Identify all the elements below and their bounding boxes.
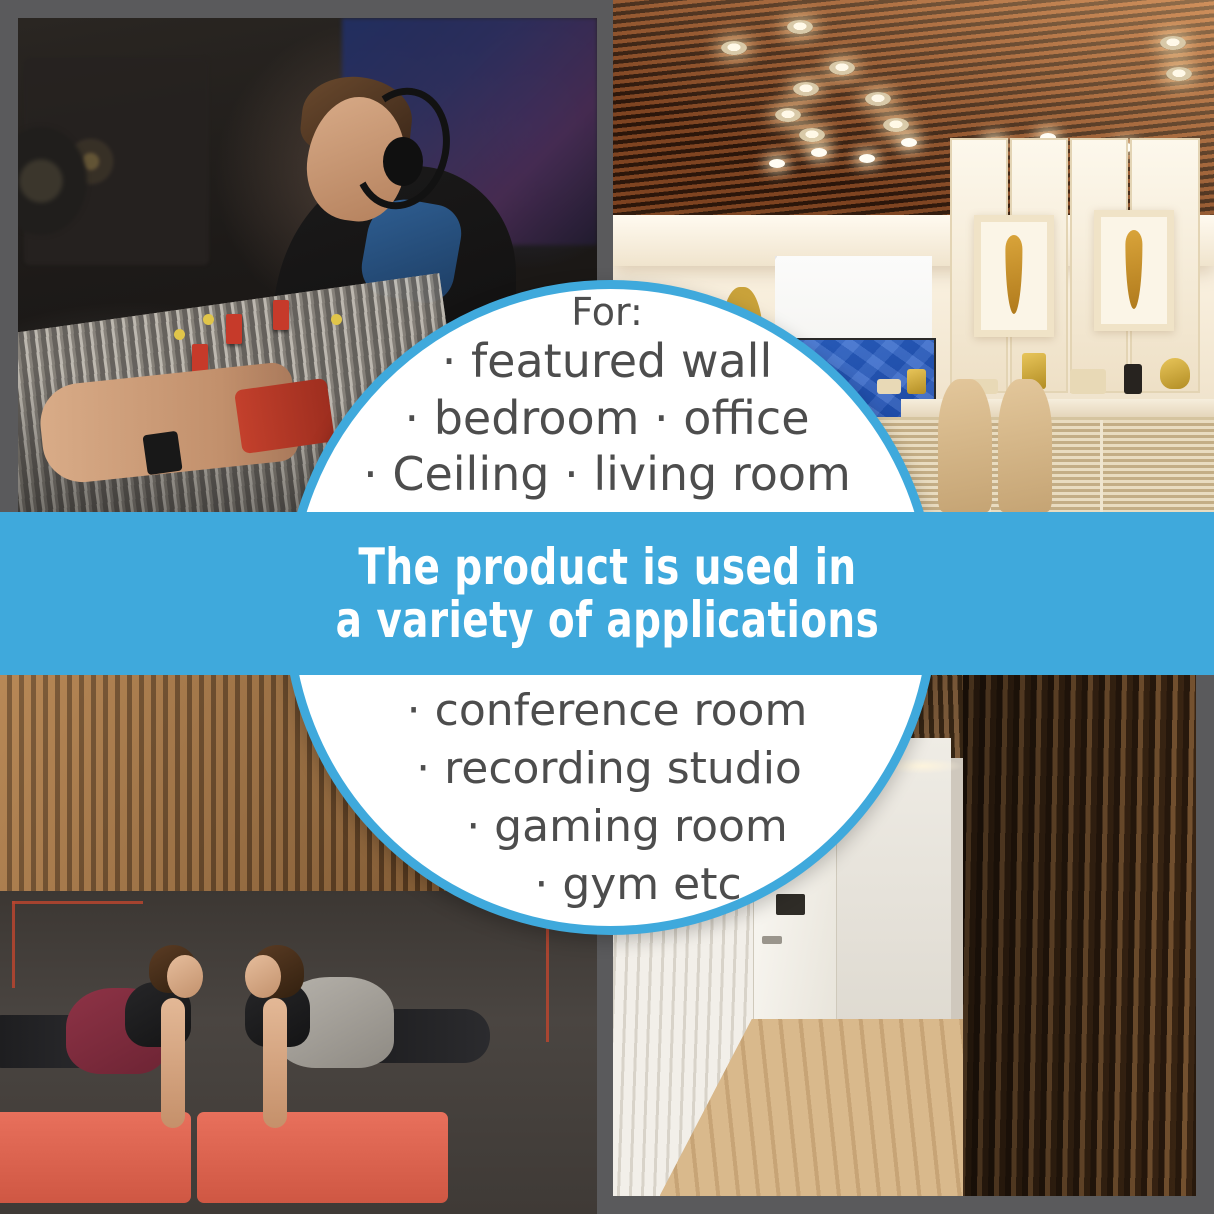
recessed-downlight [859,154,875,163]
glass-decor [1160,358,1190,389]
glassware-decor [1070,369,1106,395]
gym-person-head [167,955,203,998]
feather-artwork [1005,235,1022,315]
recessed-downlight [769,159,785,168]
feather-artwork [1125,230,1142,310]
cabinet-divider [1100,420,1103,512]
counter-decor [877,379,901,394]
console-fader [226,314,242,344]
console-fader [273,300,289,330]
dark-wood-slat-wall [963,675,1196,1196]
ceiling-spotlight [775,108,801,122]
headphone-earcup [383,137,424,186]
floor-marking [12,901,143,904]
ceiling-spotlight [1166,67,1192,81]
coffee-machine [1124,364,1142,395]
framed-art [974,215,1054,337]
gym-person-head [245,955,281,998]
ceiling-spotlight [793,82,819,96]
gym-person-arm [263,998,287,1127]
floor-marking [12,901,15,987]
exercise-mat [197,1112,448,1204]
studio-person-sleeve [234,377,335,453]
door-handle [762,936,782,944]
wristwatch [143,431,183,475]
headline-text: The product is used in a variety of appl… [335,541,879,647]
gym-person-arm [161,998,185,1127]
dining-chair [938,379,992,512]
gold-letter-decor [907,369,925,395]
ceiling-spotlight [1160,36,1186,50]
exercise-mat [0,1112,191,1204]
wall-control-panel [776,894,805,915]
dining-chair [998,379,1052,512]
ceiling-spotlight [721,41,747,55]
framed-art [1094,210,1174,332]
ceiling-spotlight [883,118,909,132]
infographic-canvas: The product is used in a variety of appl… [0,0,1214,1214]
headline-banner: The product is used in a variety of appl… [0,512,1214,675]
console-knob [331,314,342,325]
